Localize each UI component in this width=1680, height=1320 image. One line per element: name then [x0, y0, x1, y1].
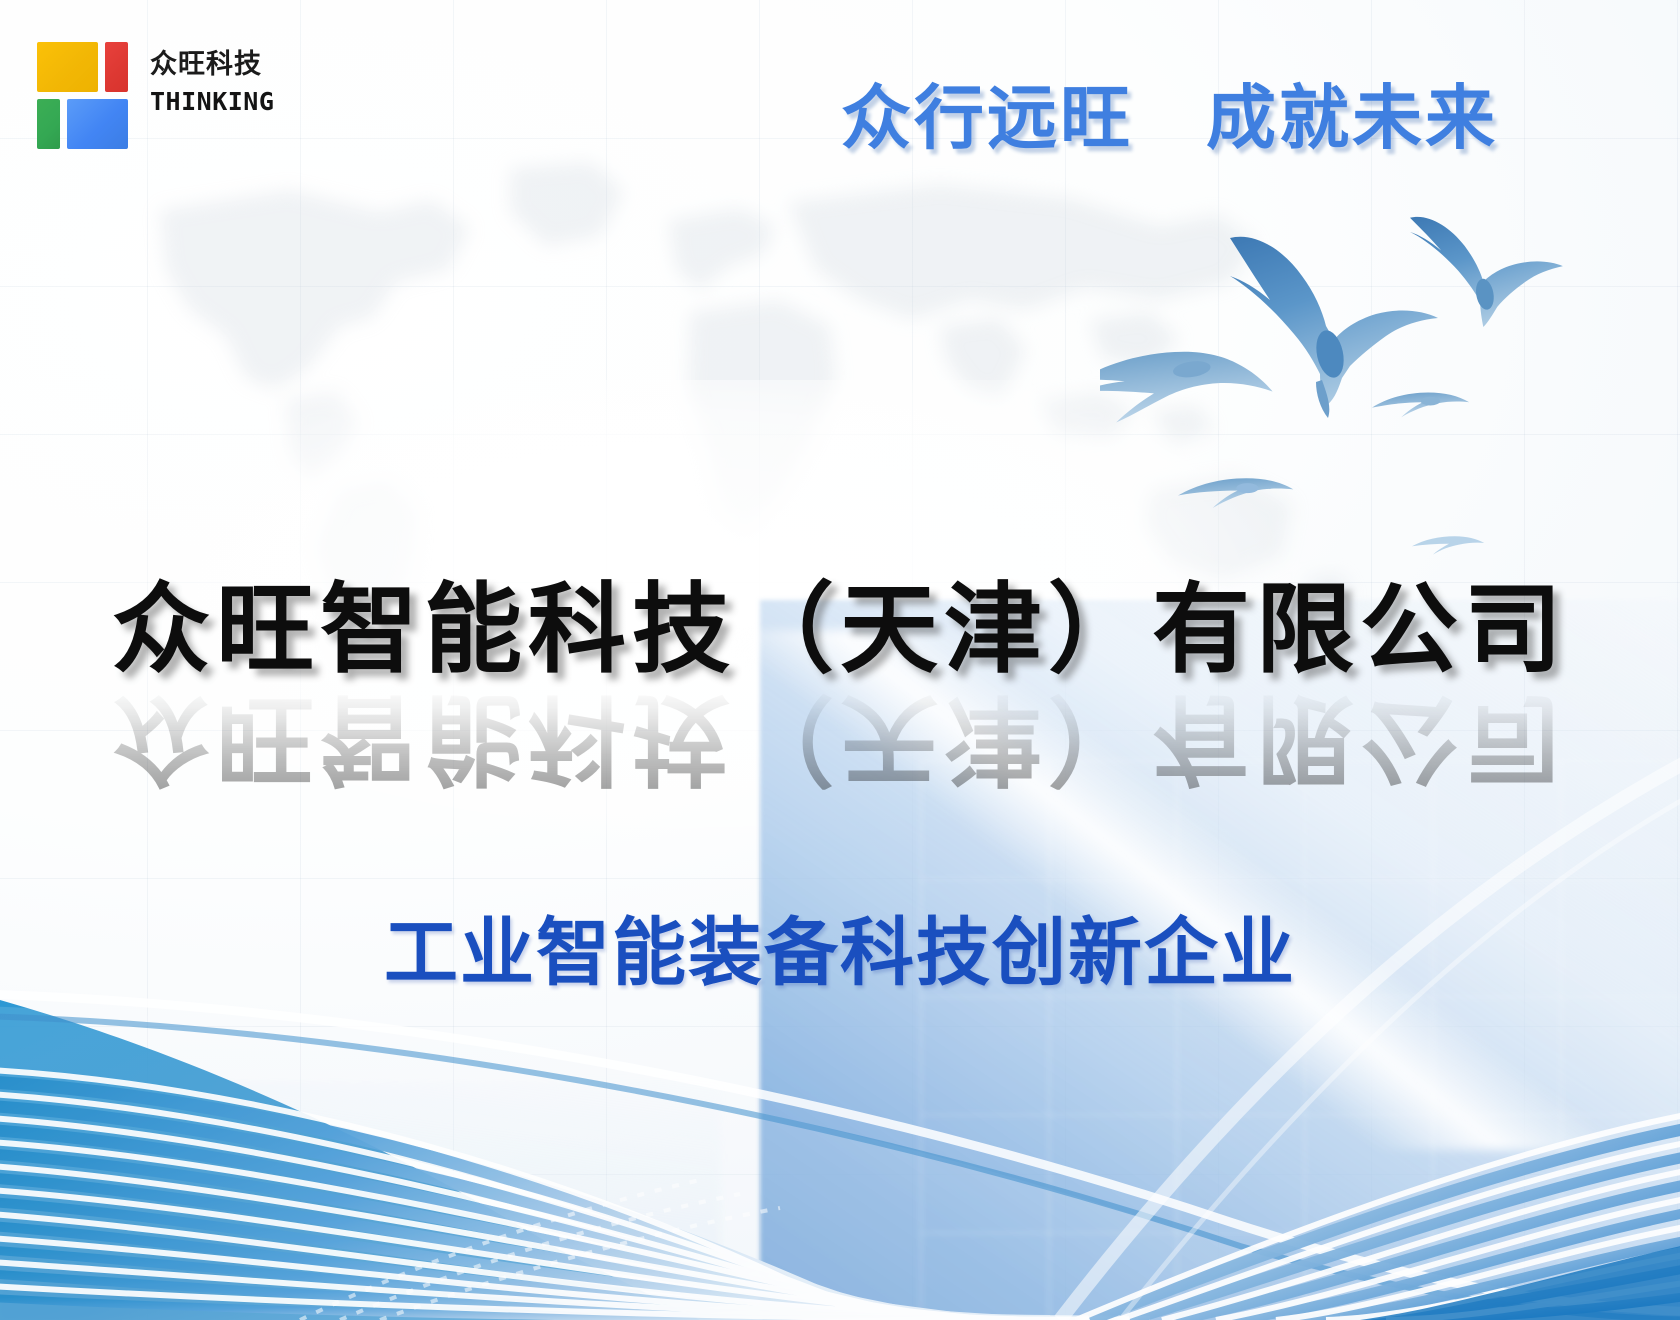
red-block-icon — [105, 42, 128, 92]
header-slogan: 众行远旺 成就未来 — [841, 62, 1498, 163]
logo-wordmark: 众旺科技 THINKING — [150, 50, 298, 116]
company-logo[interactable]: 众旺科技 THINKING — [24, 26, 292, 158]
company-title-reflection: 众旺智能科技（天津）有限公司 — [0, 686, 1680, 790]
title-block: 众旺智能科技（天津）有限公司 众旺智能科技（天津）有限公司 — [0, 578, 1680, 790]
company-title: 众旺智能科技（天津）有限公司 — [0, 578, 1680, 682]
yellow-block-icon — [37, 42, 98, 92]
logo-english-name: THINKING — [150, 87, 298, 116]
presentation-slide: 众旺科技 THINKING 众行远旺 成就未来 众旺智能科技（天津）有限公司 众… — [0, 0, 1680, 1320]
logo-color-blocks — [37, 42, 147, 152]
company-subtitle: 工业智能装备科技创新企业 — [0, 893, 1680, 1000]
blue-block-icon — [67, 99, 128, 149]
logo-chinese-name: 众旺科技 — [150, 50, 298, 78]
background-bottom-left-haze — [0, 1080, 720, 1320]
green-block-icon — [37, 99, 60, 149]
